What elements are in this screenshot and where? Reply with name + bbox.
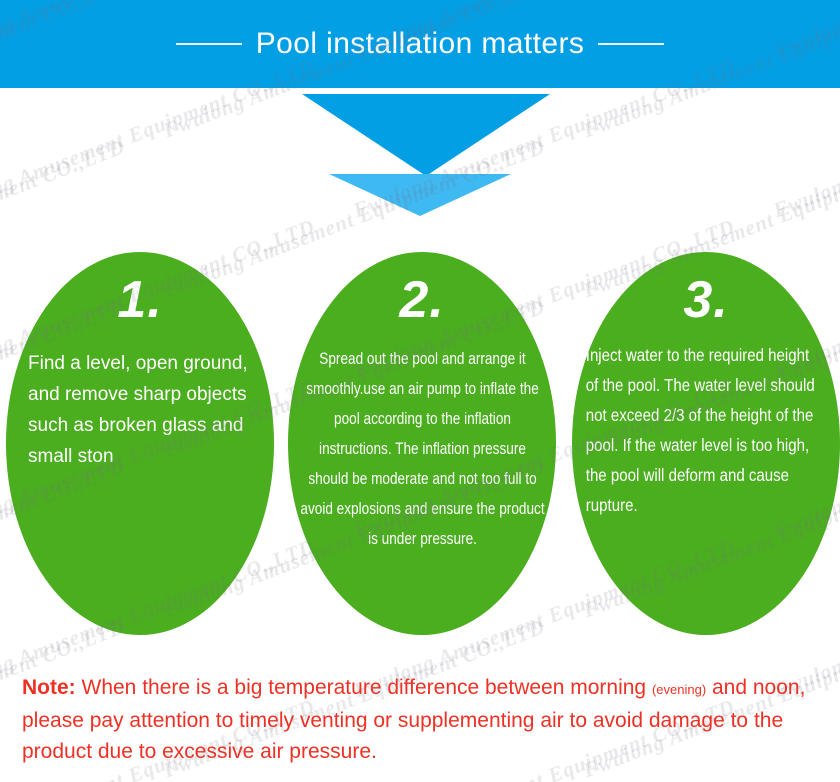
note-block: Note: When there is a big temperature di… (22, 672, 822, 767)
step-text-1: Find a level, open ground, and remove sh… (6, 348, 274, 472)
header-banner: Pool installation matters (0, 0, 840, 88)
note-text-part1: When there is a big temperature differen… (76, 676, 652, 699)
step-ellipse-2: 2. Spread out the pool and arrange it sm… (288, 252, 556, 635)
step-text-3: Inject water to the required height of t… (572, 340, 839, 520)
step-number-3: 3. (572, 274, 840, 326)
header-inner: Pool installation matters (0, 0, 840, 88)
arrow-down-small-icon (329, 174, 511, 216)
step-text-2: Spread out the pool and arrange it smoot… (288, 344, 556, 554)
note-parenthetical: (evening) (652, 682, 706, 697)
arrow-down-large-icon (302, 94, 550, 176)
step-ellipse-3: 3. Inject water to the required height o… (572, 252, 840, 635)
note-label: Note: (22, 676, 76, 699)
steps-row: 1. Find a level, open ground, and remove… (0, 252, 840, 637)
step-number-2: 2. (288, 274, 556, 326)
arrow-group (0, 88, 840, 228)
infographic-page: Pool installation matters 1. Find a leve… (0, 0, 840, 782)
page-title: Pool installation matters (256, 27, 585, 61)
step-number-1: 1. (6, 274, 274, 326)
title-rule-left (176, 43, 242, 45)
title-rule-right (598, 43, 664, 45)
step-ellipse-1: 1. Find a level, open ground, and remove… (6, 252, 274, 635)
